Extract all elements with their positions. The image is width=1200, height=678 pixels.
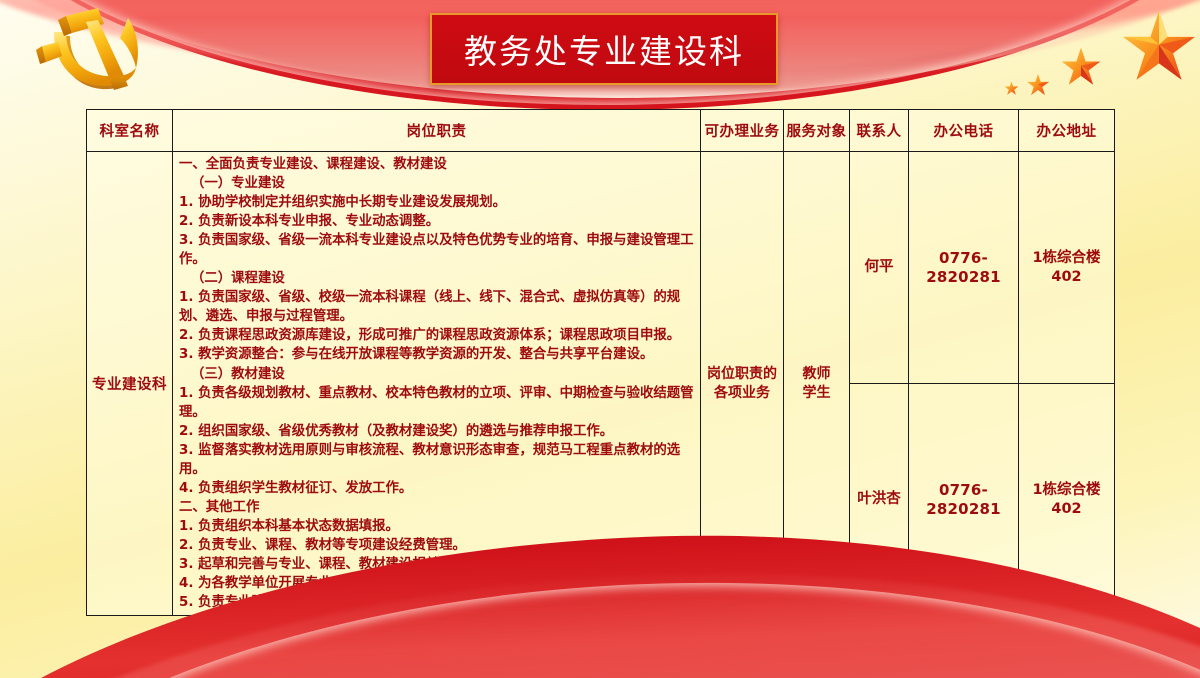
- cell-office-phone-1: 0776-2820281: [909, 152, 1019, 384]
- cell-department: 专业建设科: [87, 152, 173, 616]
- duty-line: 3. 教学资源整合：参与在线开放课程等教学资源的开发、整合与共享平台建设。: [179, 345, 696, 364]
- cpc-hammer-sickle-emblem: [24, 2, 164, 102]
- duty-line: 二、其他工作: [179, 498, 696, 517]
- decorative-star-tiny: [1004, 81, 1019, 101]
- poster-root: 教务处专业建设科 科室名称 岗位职责 可办理业务 服务对象 联系人 办公电话 办…: [0, 0, 1200, 678]
- duty-line: 1. 负责组织本科基本状态数据填报。: [179, 517, 696, 536]
- duty-line: 3. 监督落实教材选用原则与审核流程、教材意识形态审查，规范马工程重点教材的选用…: [179, 441, 696, 479]
- duty-line: 1. 负责国家级、省级、校级一流本科课程（线上、线下、混合式、虚拟仿真等）的规划…: [179, 288, 696, 326]
- cell-contact-person-1: 何平: [850, 152, 909, 384]
- duty-line: 4. 负责组织学生教材征订、发放工作。: [179, 479, 696, 498]
- page-title-banner: 教务处专业建设科: [430, 13, 778, 85]
- header-office-phone: 办公电话: [909, 110, 1019, 152]
- header-office-address: 办公地址: [1019, 110, 1115, 152]
- address-line2: 402: [1051, 269, 1081, 285]
- duty-line: 2. 组织国家级、省级优秀教材（及教材建设奖）的遴选与推荐申报工作。: [179, 422, 696, 441]
- duty-line: 1. 负责各级规划教材、重点教材、校本特色教材的立项、评审、中期检查与验收结题管…: [179, 384, 696, 422]
- header-duties: 岗位职责: [173, 110, 701, 152]
- address-line1: 1栋综合楼: [1032, 482, 1100, 498]
- table-row: 专业建设科 一、全面负责专业建设、课程建设、教材建设（一）专业建设1. 协助学校…: [87, 152, 1115, 384]
- cell-office-address-1: 1栋综合楼 402: [1019, 152, 1115, 384]
- duty-line: 2. 负责课程思政资源库建设，形成可推广的课程思政资源体系；课程思政项目申报。: [179, 326, 696, 345]
- duty-line: 3. 负责国家级、省级一流本科专业建设点以及特色优势专业的培育、申报与建设管理工…: [179, 231, 696, 269]
- page-title: 教务处专业建设科: [464, 25, 744, 73]
- duty-line: （二）课程建设: [179, 269, 696, 288]
- duty-line: （一）专业建设: [179, 174, 696, 193]
- duty-line: 2. 负责新设本科专业申报、专业动态调整。: [179, 212, 696, 231]
- header-contact-person: 联系人: [850, 110, 909, 152]
- header-department: 科室名称: [87, 110, 173, 152]
- header-audience: 服务对象: [784, 110, 850, 152]
- address-line1: 1栋综合楼: [1032, 250, 1100, 266]
- address-line2: 402: [1051, 501, 1081, 517]
- decorative-star-large: [1120, 8, 1198, 91]
- audience-line-teacher: 教师: [803, 366, 831, 382]
- duty-line: 1. 协助学校制定并组织实施中长期专业建设发展规划。: [179, 193, 696, 212]
- header-business: 可办理业务: [701, 110, 784, 152]
- duty-line: 一、全面负责专业建设、课程建设、教材建设: [179, 155, 696, 174]
- audience-line-student: 学生: [803, 385, 831, 401]
- decorative-star-small: [1026, 73, 1050, 102]
- duty-line: （三）教材建设: [179, 365, 696, 384]
- table-header-row: 科室名称 岗位职责 可办理业务 服务对象 联系人 办公电话 办公地址: [87, 110, 1115, 152]
- decorative-star-medium: [1060, 46, 1102, 93]
